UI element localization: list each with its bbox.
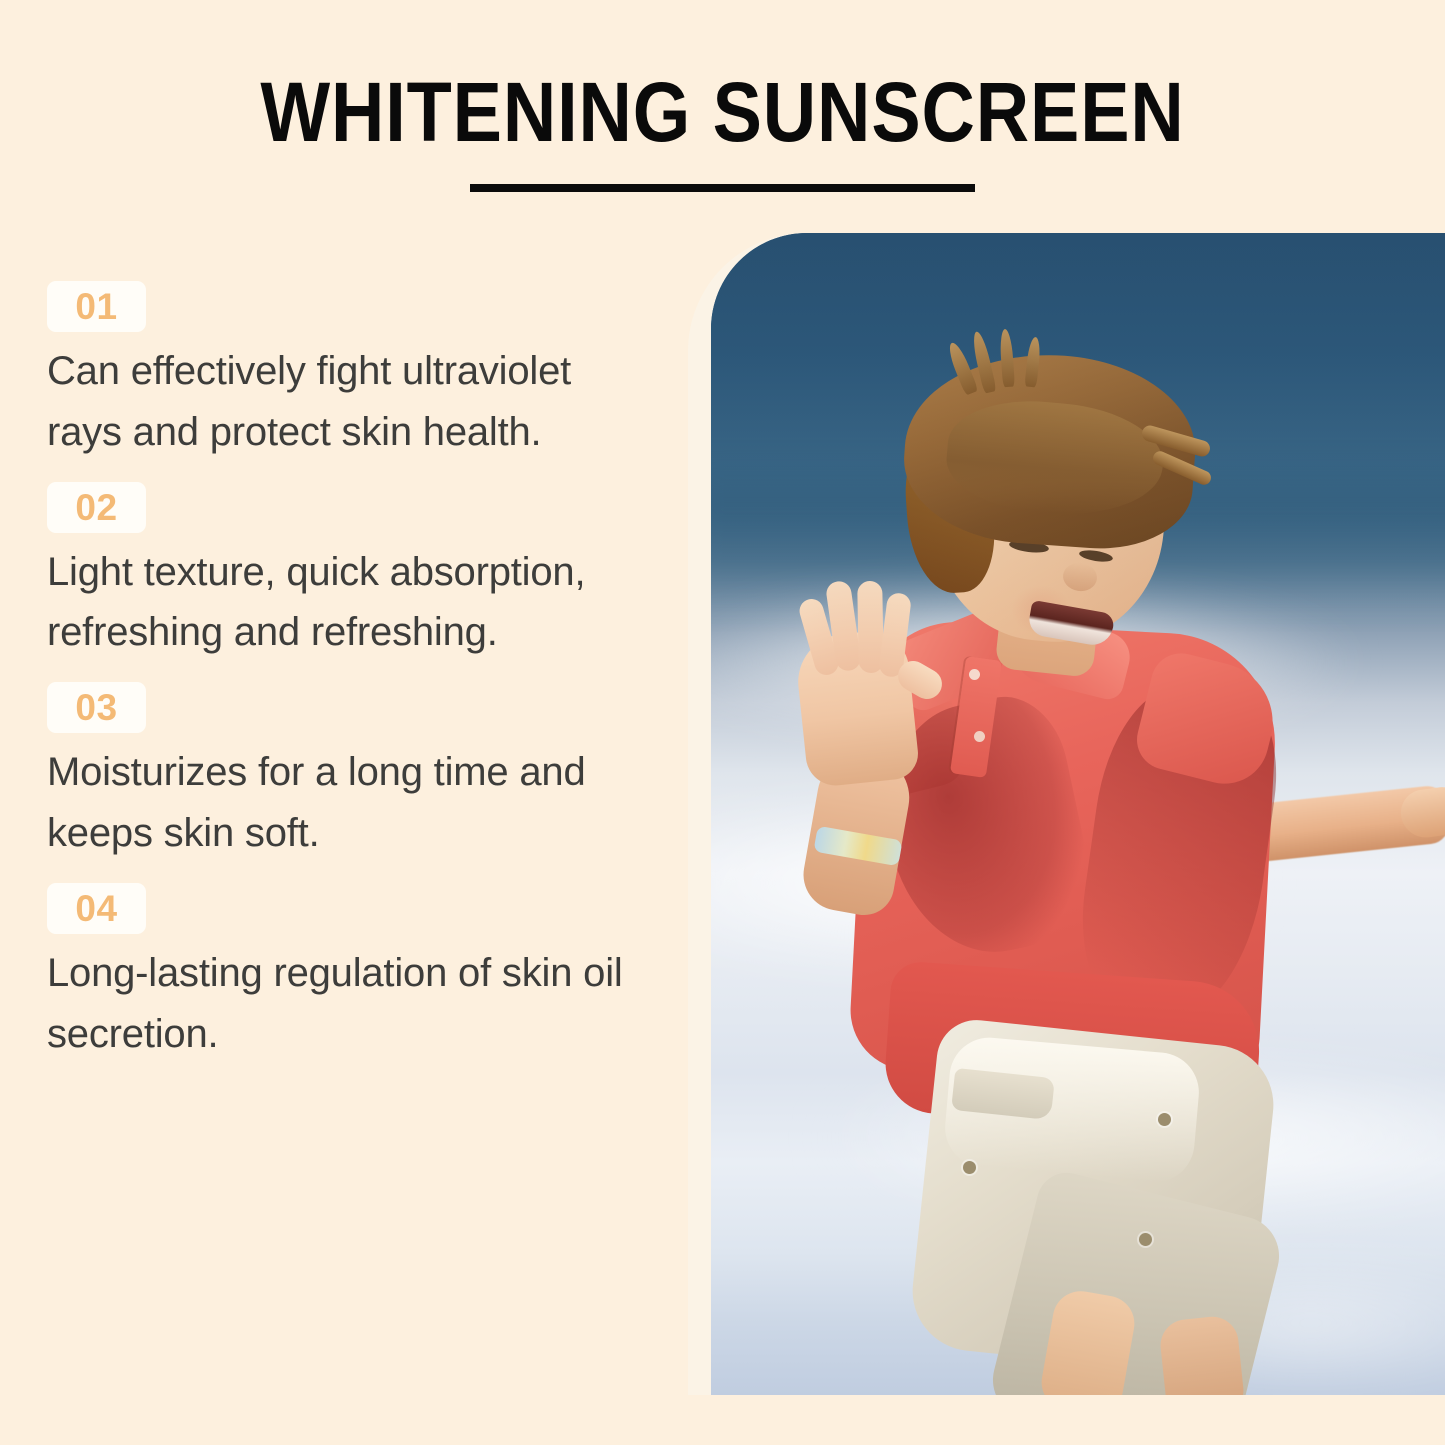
feature-list: 01 Can effectively fight ultraviolet ray…: [47, 281, 647, 1064]
shirt-button-bottom: [974, 731, 985, 742]
back-leg: [1158, 1314, 1246, 1395]
title-underline-divider: [470, 184, 975, 192]
feature-number-badge-04: 04: [47, 883, 146, 934]
feature-number-badge-03: 03: [47, 682, 146, 733]
pocket-button-3: [1139, 1233, 1152, 1246]
feature-number-badge-02: 02: [47, 482, 146, 533]
hero-photo: [711, 233, 1445, 1395]
feature-item-04: 04 Long-lasting regulation of skin oil s…: [47, 883, 647, 1065]
feature-item-01: 01 Can effectively fight ultraviolet ray…: [47, 281, 647, 463]
header: WHITENING SUNSCREEN: [0, 70, 1445, 192]
boy-figure: [711, 233, 1445, 1395]
feature-item-03: 03 Moisturizes for a long time and keeps…: [47, 682, 647, 864]
feature-number-badge-01: 01: [47, 281, 146, 332]
page-title: WHITENING SUNSCREEN: [87, 70, 1359, 156]
feature-text-01: Can effectively fight ultraviolet rays a…: [47, 341, 639, 463]
feature-text-03: Moisturizes for a long time and keeps sk…: [47, 742, 639, 864]
pocket-button-1: [963, 1161, 976, 1174]
feature-text-04: Long-lasting regulation of skin oil secr…: [47, 943, 639, 1065]
shirt-button-top: [969, 669, 980, 680]
poster-canvas: WHITENING SUNSCREEN 01 Can effectively f…: [0, 0, 1445, 1445]
pocket-button-2: [1158, 1113, 1171, 1126]
feature-text-02: Light texture, quick absorption, refresh…: [47, 542, 639, 664]
feature-item-02: 02 Light texture, quick absorption, refr…: [47, 482, 647, 664]
